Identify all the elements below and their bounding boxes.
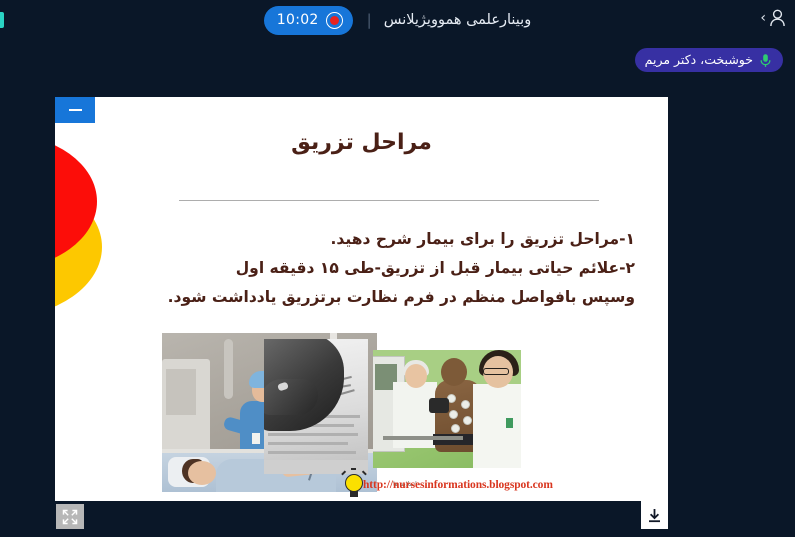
recording-timer-pill[interactable]: 10:02 [264,6,353,35]
photo-ecg-examination [373,350,521,468]
slide-divider [179,200,599,201]
slide-title: مراحل تزریق [55,130,668,155]
fullscreen-button[interactable] [56,504,84,529]
person-icon [769,9,786,27]
active-speaker-badge: خوشبخت، دکتر مریم [635,48,783,72]
meeting-title: وبینارعلمی هموویژیلانس [384,12,532,28]
minimize-icon [69,109,82,111]
microphone-icon [759,53,772,68]
watermark-url: http://nursesinformations.blogspot.com [363,479,553,491]
photo-nurse-patient-bed [162,333,377,492]
header-center-group: 10:02 | وبینارعلمی هموویژیلانس [0,0,795,40]
slide-body-line-1: ۱-مراحل تزریق را برای بیمار شرح دهید. [55,225,635,254]
record-dot-icon [326,12,343,29]
photo-hand-writing-form [264,339,368,474]
watermark: http://nursesinformations.blogspot.com [339,472,539,501]
chevron-left-icon: ‹ [760,11,766,25]
meeting-screen: 10:02 | وبینارعلمی هموویژیلانس ‹ خوشبخت،… [0,0,795,537]
header-separator: | [367,11,372,29]
speaker-name: خوشبخت، دکتر مریم [645,48,753,72]
top-header-bar: 10:02 | وبینارعلمی هموویژیلانس ‹ [0,0,795,40]
slide-body-line-2: ۲-علائم حیاتی بیمار قبل از تزریق-طی ۱۵ د… [55,254,635,283]
shared-slide-viewer[interactable]: مراحل تزریق ۱-مراحل تزریق را برای بیمار … [55,97,668,501]
slide-body-text: ۱-مراحل تزریق را برای بیمار شرح دهید. ۲-… [55,225,635,312]
timer-label: 10:02 [277,10,319,31]
lightbulb-icon [345,474,363,492]
slide-small-note: اسلاید ها [393,480,417,488]
slide-body-line-3: وسپس بافواصل منظم در فرم نظارت برتزریق ی… [55,283,635,312]
bottom-bar [0,501,795,537]
minimize-button[interactable] [55,97,95,123]
download-icon [646,507,663,524]
fullscreen-expand-icon [62,509,78,525]
participants-toggle[interactable]: ‹ [760,9,786,27]
download-button[interactable] [641,501,668,529]
